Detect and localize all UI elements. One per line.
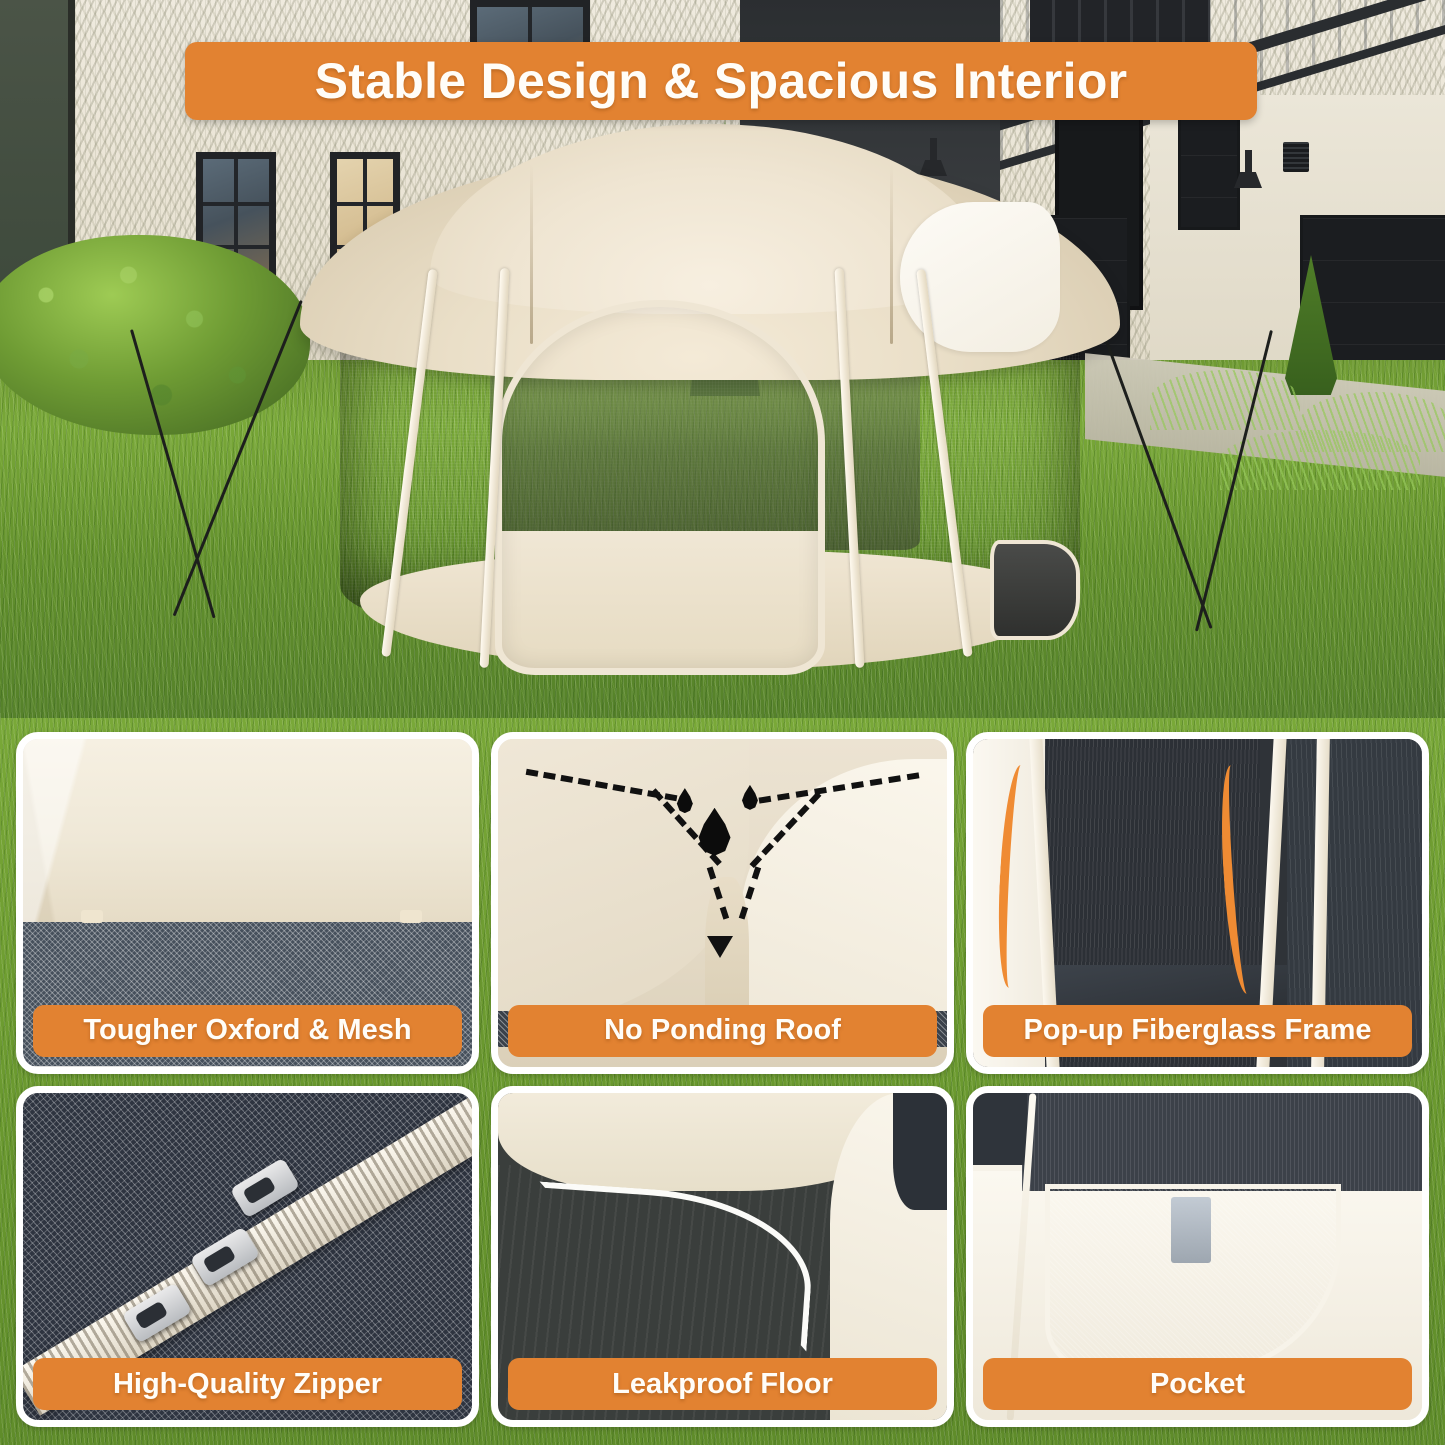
feature-label: High-Quality Zipper xyxy=(113,1368,382,1401)
wall-sconce xyxy=(1245,150,1252,176)
feature-card-no-ponding-roof[interactable]: No Ponding Roof xyxy=(491,732,954,1074)
caption-bar: Tougher Oxford & Mesh xyxy=(33,1005,462,1057)
gable-vent xyxy=(1283,142,1309,172)
pocket-contents xyxy=(1171,1197,1211,1263)
page-title: Stable Design & Spacious Interior xyxy=(315,52,1128,110)
hero-image: Stable Design & Spacious Interior xyxy=(0,0,1445,718)
feature-label: Tougher Oxford & Mesh xyxy=(83,1014,411,1047)
feature-label: Pocket xyxy=(1150,1368,1245,1401)
canopy-seam xyxy=(530,164,533,344)
mesh-upper-wall xyxy=(1022,1093,1422,1191)
garage-door xyxy=(1178,110,1240,230)
feature-label: Leakproof Floor xyxy=(612,1368,833,1401)
feature-label: Pop-up Fiberglass Frame xyxy=(1023,1014,1371,1047)
feature-card-high-quality-zipper[interactable]: High-Quality Zipper xyxy=(16,1086,479,1428)
feature-card-pop-up-fiberglass-frame[interactable]: Pop-up Fiberglass Frame xyxy=(966,732,1429,1074)
fabric-tab xyxy=(81,910,103,923)
oxford-fabric xyxy=(23,739,472,922)
mesh-corner xyxy=(973,1093,1027,1165)
flow-arrow-icon xyxy=(707,936,733,958)
canopy-seam xyxy=(890,164,893,344)
ornamental-grass xyxy=(1150,370,1300,430)
caption-bar: Pop-up Fiberglass Frame xyxy=(983,1005,1412,1057)
tent-side-window xyxy=(990,540,1080,640)
feature-grid: Tougher Oxford & Mesh xyxy=(0,718,1445,1445)
feature-card-leakproof-floor[interactable]: Leakproof Floor xyxy=(491,1086,954,1428)
ornamental-grass xyxy=(1220,430,1420,490)
caption-bar: Pocket xyxy=(983,1358,1412,1410)
caption-bar: High-Quality Zipper xyxy=(33,1358,462,1410)
feature-card-tougher-oxford-mesh[interactable]: Tougher Oxford & Mesh xyxy=(16,732,479,1074)
feature-label: No Ponding Roof xyxy=(604,1014,841,1047)
fabric-tab xyxy=(400,910,422,923)
tent-door xyxy=(495,300,825,675)
mesh-corner xyxy=(893,1093,947,1211)
title-banner: Stable Design & Spacious Interior xyxy=(185,42,1257,120)
caption-bar: Leakproof Floor xyxy=(508,1358,937,1410)
screen-house-tent xyxy=(300,150,1120,680)
caption-bar: No Ponding Roof xyxy=(508,1005,937,1057)
feature-card-pocket[interactable]: Pocket xyxy=(966,1086,1429,1428)
